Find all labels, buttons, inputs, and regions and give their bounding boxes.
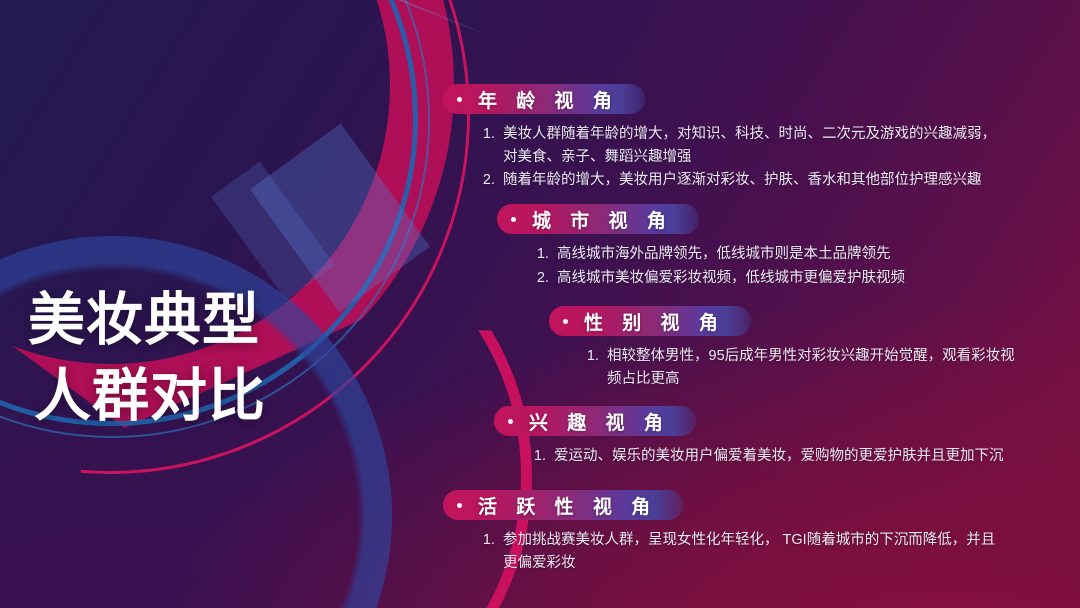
slide-canvas: 美妆典型 人群对比 年 龄 视 角 1. 美妆人群随着年龄的增大，对知识、科技、… xyxy=(0,0,1080,608)
list-item-number: 1. xyxy=(577,345,599,390)
list-item: 1. 高线城市海外品牌领先，低线城市则是本土品牌领先 xyxy=(527,243,1017,266)
bullet-dot-icon xyxy=(457,97,462,102)
section-city-pill: 城 市 视 角 xyxy=(497,204,699,234)
list-item: 2. 随着年龄的增大，美妆用户逐渐对彩妆、护肤、香水和其他部位护理感兴趣 xyxy=(473,169,1003,192)
list-item-text: 美妆人群随着年龄的增大，对知识、科技、时尚、二次元及游戏的兴趣减弱，对美食、亲子… xyxy=(503,123,1003,168)
section-age-label: 年 龄 视 角 xyxy=(478,86,619,113)
list-item: 1. 爱运动、娱乐的美妆用户偏爱着美妆，爱购物的更爱护肤并且更加下沉 xyxy=(524,445,1024,468)
list-item-text: 高线城市海外品牌领先，低线城市则是本土品牌领先 xyxy=(557,243,1017,266)
section-gender-bullets: 1. 相较整体男性，95后成年男性对彩妆兴趣开始觉醒，观看彩妆视频占比更高 xyxy=(549,345,1019,390)
bullet-dot-icon xyxy=(511,217,516,222)
section-city-bullets: 1. 高线城市海外品牌领先，低线城市则是本土品牌领先 2. 高线城市美妆偏爱彩妆… xyxy=(497,243,1017,289)
section-activity: 活 跃 性 视 角 1. 参加挑战赛美妆人群，呈现女性化年轻化， TGI随着城市… xyxy=(443,490,1003,575)
list-item-number: 1. xyxy=(473,123,495,168)
bullet-dot-icon xyxy=(563,319,568,324)
section-city-label: 城 市 视 角 xyxy=(532,206,673,233)
section-interest-label: 兴 趣 视 角 xyxy=(529,408,670,435)
list-item-text: 高线城市美妆偏爱彩妆视频，低线城市更偏爱护肤视频 xyxy=(557,267,1017,290)
section-interest-bullets: 1. 爱运动、娱乐的美妆用户偏爱着美妆，爱购物的更爱护肤并且更加下沉 xyxy=(494,445,1024,468)
list-item-number: 2. xyxy=(473,169,495,192)
section-gender-pill: 性 别 视 角 xyxy=(549,306,751,336)
list-item-number: 1. xyxy=(473,529,495,574)
section-age-pill: 年 龄 视 角 xyxy=(443,84,645,114)
list-item-text: 爱运动、娱乐的美妆用户偏爱着美妆，爱购物的更爱护肤并且更加下沉 xyxy=(554,445,1024,468)
section-gender: 性 别 视 角 1. 相较整体男性，95后成年男性对彩妆兴趣开始觉醒，观看彩妆视… xyxy=(549,306,1019,391)
list-item-text: 随着年龄的增大，美妆用户逐渐对彩妆、护肤、香水和其他部位护理感兴趣 xyxy=(503,169,1003,192)
section-activity-pill: 活 跃 性 视 角 xyxy=(443,490,683,520)
list-item: 1. 相较整体男性，95后成年男性对彩妆兴趣开始觉醒，观看彩妆视频占比更高 xyxy=(577,345,1019,390)
list-item: 1. 参加挑战赛美妆人群，呈现女性化年轻化， TGI随着城市的下沉而降低，并且更… xyxy=(473,529,1003,574)
section-city: 城 市 视 角 1. 高线城市海外品牌领先，低线城市则是本土品牌领先 2. 高线… xyxy=(497,204,1017,290)
section-interest: 兴 趣 视 角 1. 爱运动、娱乐的美妆用户偏爱着美妆，爱购物的更爱护肤并且更加… xyxy=(494,406,1024,469)
list-item-number: 1. xyxy=(527,243,549,266)
list-item: 2. 高线城市美妆偏爱彩妆视频，低线城市更偏爱护肤视频 xyxy=(527,267,1017,290)
section-activity-bullets: 1. 参加挑战赛美妆人群，呈现女性化年轻化， TGI随着城市的下沉而降低，并且更… xyxy=(443,529,1003,574)
section-gender-label: 性 别 视 角 xyxy=(584,308,725,335)
section-interest-pill: 兴 趣 视 角 xyxy=(494,406,696,436)
content-column: 年 龄 视 角 1. 美妆人群随着年龄的增大，对知识、科技、时尚、二次元及游戏的… xyxy=(0,0,1080,608)
section-age: 年 龄 视 角 1. 美妆人群随着年龄的增大，对知识、科技、时尚、二次元及游戏的… xyxy=(443,84,1003,193)
section-activity-label: 活 跃 性 视 角 xyxy=(478,492,657,519)
bullet-dot-icon xyxy=(457,503,462,508)
list-item: 1. 美妆人群随着年龄的增大，对知识、科技、时尚、二次元及游戏的兴趣减弱，对美食… xyxy=(473,123,1003,168)
list-item-text: 参加挑战赛美妆人群，呈现女性化年轻化， TGI随着城市的下沉而降低，并且更偏爱彩… xyxy=(503,529,1003,574)
section-age-bullets: 1. 美妆人群随着年龄的增大，对知识、科技、时尚、二次元及游戏的兴趣减弱，对美食… xyxy=(443,123,1003,192)
bullet-dot-icon xyxy=(508,419,513,424)
list-item-text: 相较整体男性，95后成年男性对彩妆兴趣开始觉醒，观看彩妆视频占比更高 xyxy=(607,345,1019,390)
list-item-number: 2. xyxy=(527,267,549,290)
list-item-number: 1. xyxy=(524,445,546,468)
